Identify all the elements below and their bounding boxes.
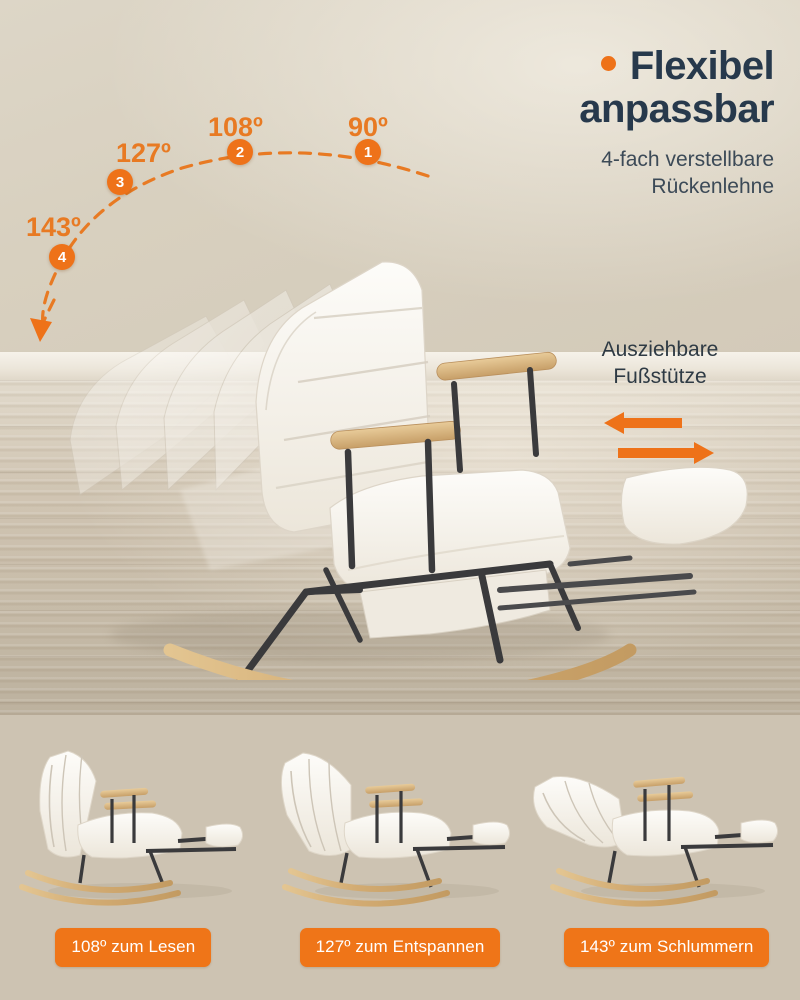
caption-cell-3: 143º zum Schlummern <box>533 920 800 1000</box>
caption-pill-143: 143º zum Schlummern <box>564 928 769 967</box>
caption-cell-1: 108º zum Lesen <box>0 920 267 1000</box>
footrest-callout: Ausziehbare Fußstütze <box>560 336 760 391</box>
thumbnail-row <box>0 715 800 920</box>
angle-label-4: 143º <box>26 212 81 243</box>
angle-label-2: 108º <box>208 112 263 143</box>
angle-marker-4[interactable]: 4 <box>49 244 75 270</box>
hero-scene: Flexibel anpassbar 4-fach verstellbare R… <box>0 0 800 715</box>
caption-row: 108º zum Lesen 127º zum Entspannen 143º … <box>0 920 800 1000</box>
caption-pill-108: 108º zum Lesen <box>55 928 211 967</box>
headline-line-1: Flexibel <box>630 46 774 87</box>
recline-angle-arc-group: 90º 1 108º 2 127º 3 143º 4 <box>0 90 430 380</box>
position-thumbnail-127[interactable] <box>267 715 534 920</box>
chair-pose-108-icon <box>0 715 266 920</box>
position-thumbnail-108[interactable] <box>0 715 267 920</box>
position-comparison-strip: 108º zum Lesen 127º zum Entspannen 143º … <box>0 715 800 1000</box>
bullet-dot-icon <box>601 56 616 71</box>
caption-pill-127: 127º zum Entspannen <box>300 928 501 967</box>
infographic-canvas: Flexibel anpassbar 4-fach verstellbare R… <box>0 0 800 1000</box>
angle-marker-1[interactable]: 1 <box>355 139 381 165</box>
footrest-callout-line-1: Ausziehbare <box>560 336 760 363</box>
footrest-callout-line-2: Fußstütze <box>560 363 760 390</box>
caption-cell-2: 127º zum Entspannen <box>267 920 534 1000</box>
position-thumbnail-143[interactable] <box>533 715 800 920</box>
chair-pose-143-icon <box>533 715 799 920</box>
chair-pose-127-icon <box>267 715 533 920</box>
angle-marker-2[interactable]: 2 <box>227 139 253 165</box>
extend-retract-arrows-icon <box>604 412 714 464</box>
angle-label-3: 127º <box>116 138 171 169</box>
angle-marker-3[interactable]: 3 <box>107 169 133 195</box>
